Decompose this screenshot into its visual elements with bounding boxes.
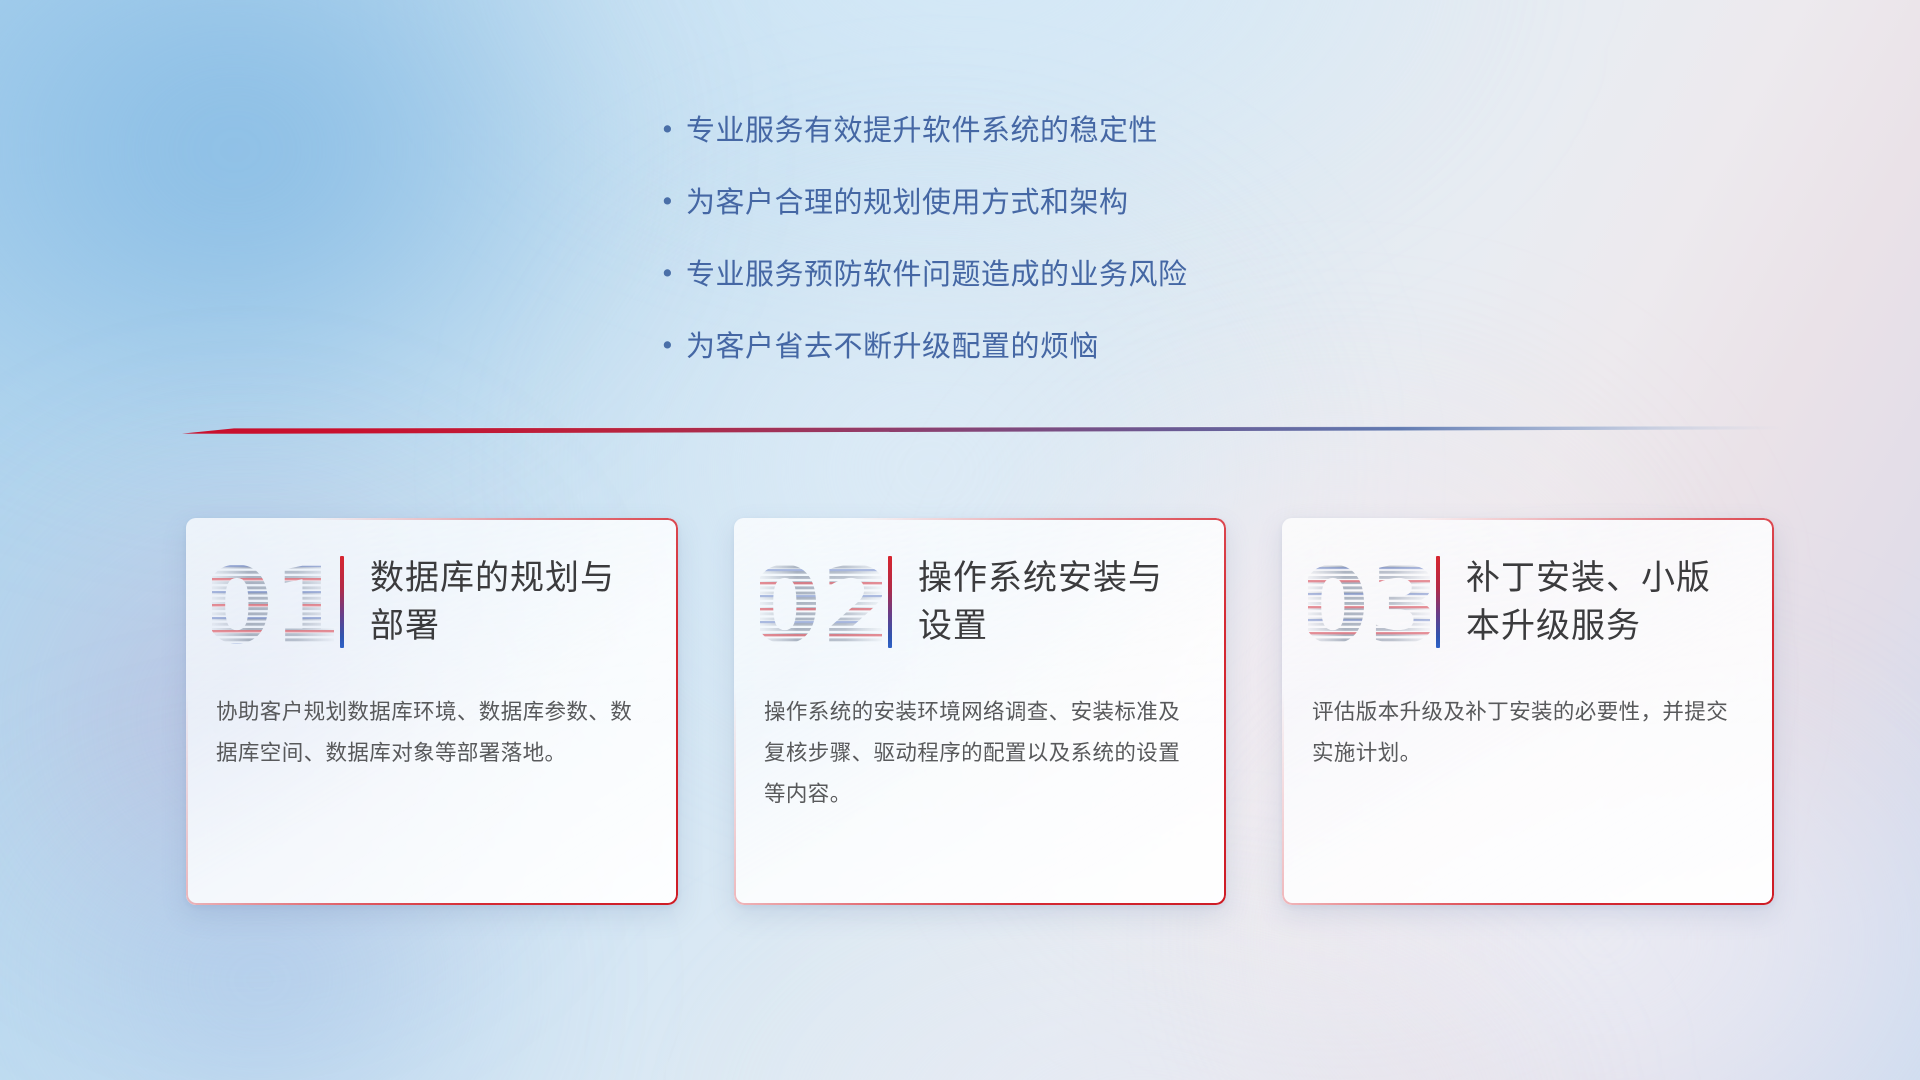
card-accent-rule [1436, 556, 1440, 648]
service-card-row: 01 数据库的规划与部署 协助客户规划数据库环境、数据库参数、数据库空间、数据库… [186, 518, 1774, 905]
card-number-striped-03: 03 [1308, 550, 1430, 654]
bullet-dot-icon: • [660, 182, 686, 222]
card-title: 操作系统安装与设置 [918, 554, 1182, 650]
card-title: 补丁安装、小版本升级服务 [1466, 554, 1730, 650]
card-description: 评估版本升级及补丁安装的必要性，并提交实施计划。 [1312, 692, 1746, 774]
card-accent-rule [340, 556, 344, 648]
bullet-dot-icon: • [660, 254, 686, 294]
card-header: 02 操作系统安装与设置 [734, 518, 1226, 686]
bullet-list: • 专业服务有效提升软件系统的稳定性 • 为客户合理的规划使用方式和架构 • 专… [660, 110, 1480, 398]
card-title: 数据库的规划与部署 [370, 554, 634, 650]
bullet-dot-icon: • [660, 326, 686, 366]
card-description: 协助客户规划数据库环境、数据库参数、数据库空间、数据库对象等部署落地。 [216, 692, 650, 774]
bullet-item: • 为客户省去不断升级配置的烦恼 [660, 326, 1480, 368]
service-card[interactable]: 03 补丁安装、小版本升级服务 评估版本升级及补丁安装的必要性，并提交实施计划。 [1282, 518, 1774, 905]
service-card[interactable]: 02 操作系统安装与设置 操作系统的安装环境网络调查、安装标准及复核步骤、驱动程… [734, 518, 1226, 905]
bullet-dot-icon: • [660, 110, 686, 150]
card-description: 操作系统的安装环境网络调查、安装标准及复核步骤、驱动程序的配置以及系统的设置等内… [764, 692, 1198, 815]
section-divider [182, 424, 1782, 440]
bullet-label: 专业服务有效提升软件系统的稳定性 [686, 110, 1158, 150]
card-header: 01 数据库的规划与部署 [186, 518, 678, 686]
bullet-label: 为客户省去不断升级配置的烦恼 [686, 326, 1099, 366]
bullet-item: • 专业服务预防软件问题造成的业务风险 [660, 254, 1480, 296]
card-header: 03 补丁安装、小版本升级服务 [1282, 518, 1774, 686]
bullet-label: 为客户合理的规划使用方式和架构 [686, 182, 1129, 222]
bullet-label: 专业服务预防软件问题造成的业务风险 [686, 254, 1188, 294]
card-number-striped-02: 02 [760, 550, 882, 654]
card-number-striped-01: 01 [212, 550, 334, 654]
service-card[interactable]: 01 数据库的规划与部署 协助客户规划数据库环境、数据库参数、数据库空间、数据库… [186, 518, 678, 905]
bullet-item: • 专业服务有效提升软件系统的稳定性 [660, 110, 1480, 152]
card-accent-rule [888, 556, 892, 648]
slide-canvas: • 专业服务有效提升软件系统的稳定性 • 为客户合理的规划使用方式和架构 • 专… [0, 0, 1920, 1080]
bullet-item: • 为客户合理的规划使用方式和架构 [660, 182, 1480, 224]
